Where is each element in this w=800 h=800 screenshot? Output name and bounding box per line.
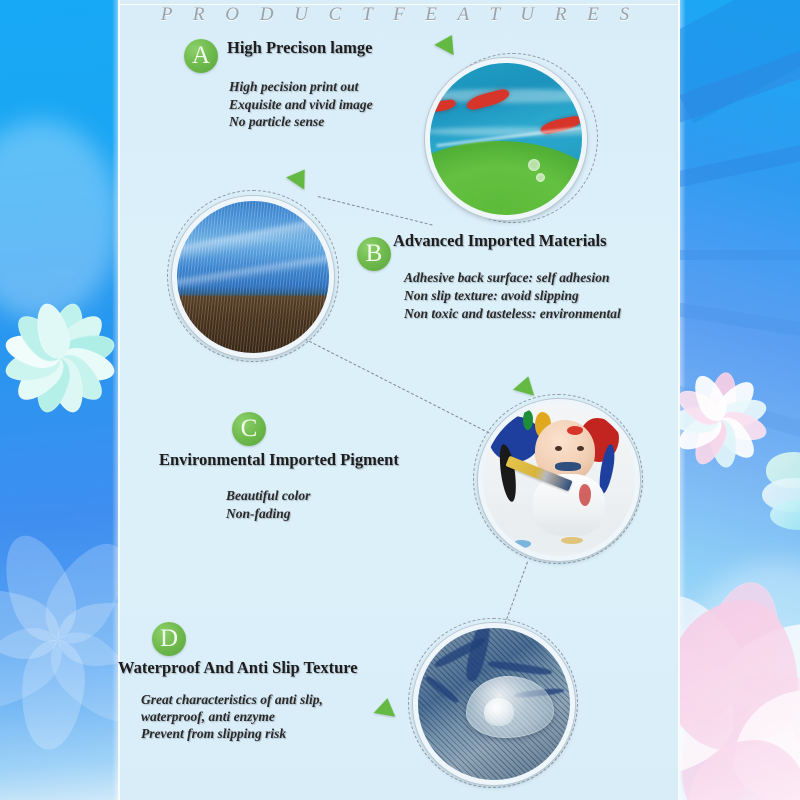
photo-circle-b bbox=[172, 196, 334, 358]
feature-badge-d: D bbox=[152, 622, 186, 656]
page-title: P R O D U C T F E A T U R E S bbox=[118, 4, 680, 26]
feature-line-d-1: Great characteristics of anti slip, bbox=[141, 691, 323, 709]
feature-line-d-2: waterproof, anti enzyme bbox=[141, 708, 275, 726]
feature-title-a: High Precison lamge bbox=[227, 38, 372, 58]
feature-line-b-1: Adhesive back surface: self adhesion bbox=[404, 269, 609, 287]
photo-circle-a bbox=[425, 58, 587, 220]
feature-title-c: Environmental Imported Pigment bbox=[159, 450, 399, 470]
feature-badge-b: B bbox=[357, 237, 391, 271]
green-triangle-arrow-icon-d bbox=[374, 696, 399, 717]
feature-line-a-3: No particle sense bbox=[229, 113, 324, 131]
page-header: P R O D U C T F E A T U R E S bbox=[118, 4, 680, 26]
panel-right-edge bbox=[678, 0, 680, 800]
feature-badge-c: C bbox=[232, 412, 266, 446]
feature-line-a-1: High pecision print out bbox=[229, 78, 358, 96]
left-decorative-band bbox=[0, 0, 120, 800]
feature-line-a-2: Exquisite and vivid image bbox=[229, 96, 373, 114]
photo-circle-c bbox=[478, 399, 640, 561]
feature-line-c-1: Beautiful color bbox=[226, 487, 310, 505]
feature-line-d-3: Prevent from slipping risk bbox=[141, 725, 286, 743]
panel-left-edge bbox=[118, 0, 120, 800]
photo-circle-d bbox=[413, 623, 575, 785]
feature-line-b-3: Non toxic and tasteless: environmental bbox=[404, 305, 621, 323]
feature-title-d: Waterproof And Anti Slip Texture bbox=[118, 658, 358, 678]
right-decorative-band bbox=[678, 0, 800, 800]
feature-line-b-2: Non slip texture: avoid slipping bbox=[404, 287, 579, 305]
feature-badge-a: A bbox=[184, 39, 218, 73]
feature-line-c-2: Non-fading bbox=[226, 505, 291, 523]
feature-title-b: Advanced Imported Materials bbox=[393, 231, 607, 251]
product-features-infographic: P R O D U C T F E A T U R E S A High Pre… bbox=[0, 0, 800, 800]
